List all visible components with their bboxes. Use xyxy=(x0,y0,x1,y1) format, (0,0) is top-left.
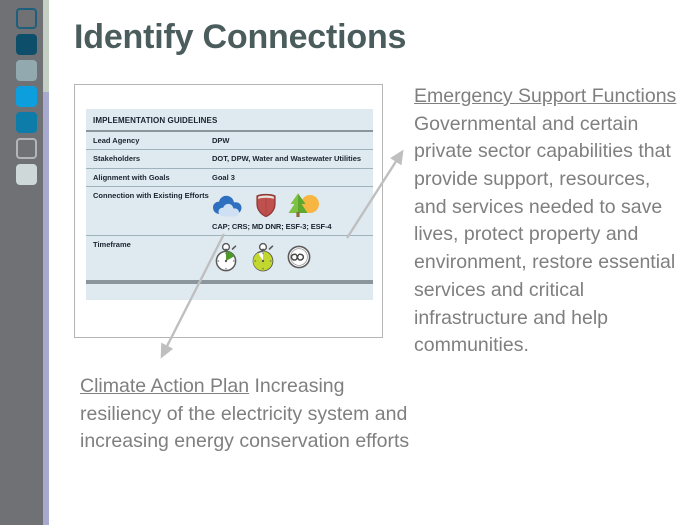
slide-canvas: Identify Connections IMPLEMENTATION GUID… xyxy=(0,0,700,525)
infinity-ongoing-icon xyxy=(286,244,312,272)
swatch-outline-gray[interactable] xyxy=(16,138,37,159)
table-row-label: Lead Agency xyxy=(86,132,212,149)
stopwatch-short-icon xyxy=(212,242,240,274)
table-row-value: DPW xyxy=(212,132,373,149)
callout-body: Governmental and certain private sector … xyxy=(414,113,675,357)
table-row-value: Goal 3 xyxy=(212,169,373,186)
table-row-label: Stakeholders xyxy=(86,150,212,167)
page-title: Identify Connections xyxy=(74,18,406,57)
table-row-label: Alignment with Goals xyxy=(86,169,212,186)
sidebar-edge-strip-top xyxy=(43,0,49,92)
swatch-light-gray[interactable] xyxy=(16,164,37,185)
timeframe-icon-row xyxy=(212,240,367,276)
swatch-dark-teal[interactable] xyxy=(16,34,37,55)
stopwatch-medium-icon xyxy=(249,242,277,274)
table-row: Alignment with Goals Goal 3 xyxy=(86,169,373,187)
table-row-value: DOT, DPW, Water and Wastewater Utilities xyxy=(212,150,373,167)
table-footer-band xyxy=(86,284,373,300)
table-row: Stakeholders DOT, DPW, Water and Wastewa… xyxy=(86,150,373,168)
implementation-guidelines-figure: IMPLEMENTATION GUIDELINES Lead Agency DP… xyxy=(74,84,383,338)
tree-sun-icon xyxy=(286,192,320,220)
swatch-bright-blue[interactable] xyxy=(16,86,37,107)
shield-icon xyxy=(255,192,277,220)
table-row-timeframe: Timeframe xyxy=(86,236,373,284)
table-title: IMPLEMENTATION GUIDELINES xyxy=(86,109,373,132)
connection-icon-caption: CAP; CRS; MD DNR; ESF-3; ESF-4 xyxy=(212,222,367,231)
swatch-slate-blue[interactable] xyxy=(16,60,37,81)
swatch-medium-blue[interactable] xyxy=(16,112,37,133)
callout-heading: Climate Action Plan xyxy=(80,375,249,397)
table-row-connection-with-existing-efforts: Connection with Existing Efforts xyxy=(86,187,373,236)
cloud-icon xyxy=(212,194,246,220)
table-row: Lead Agency DPW xyxy=(86,132,373,150)
callout-heading: Emergency Support Functions xyxy=(414,85,676,107)
table-row-label: Timeframe xyxy=(86,236,212,280)
table-row-label: Connection with Existing Efforts xyxy=(86,187,212,235)
connection-icon-row xyxy=(212,191,367,220)
callout-climate-action-plan: Climate Action Plan Increasing resilienc… xyxy=(80,373,410,456)
swatch-outline-teal[interactable] xyxy=(16,8,37,29)
implementation-guidelines-table: IMPLEMENTATION GUIDELINES Lead Agency DP… xyxy=(86,109,373,300)
callout-emergency-support-functions: Emergency Support Functions Governmental… xyxy=(414,83,684,360)
